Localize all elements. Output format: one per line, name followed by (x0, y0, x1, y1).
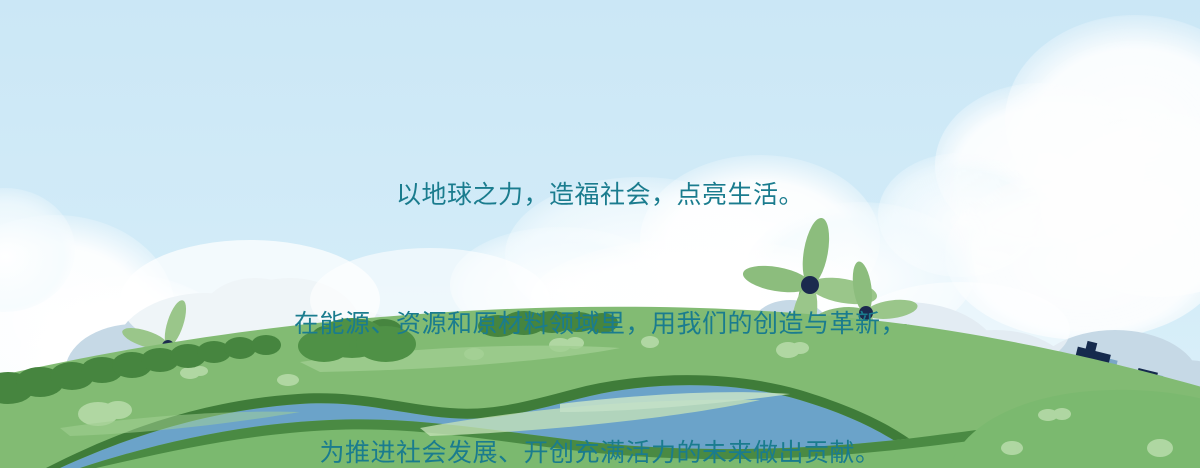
tagline-line-1: 以地球之力，造福社会，点亮生活。 (0, 174, 1200, 217)
tagline-line-3: 为推进社会发展、开创充满活力的未来做出贡献。 (0, 432, 1200, 468)
eco-energy-banner: 以地球之力，造福社会，点亮生活。 在能源、资源和原材料领域里，用我们的创造与革新… (0, 0, 1200, 468)
tagline-block: 以地球之力，造福社会，点亮生活。 在能源、资源和原材料领域里，用我们的创造与革新… (0, 88, 1200, 468)
tagline-line-2: 在能源、资源和原材料领域里，用我们的创造与革新， (0, 303, 1200, 346)
